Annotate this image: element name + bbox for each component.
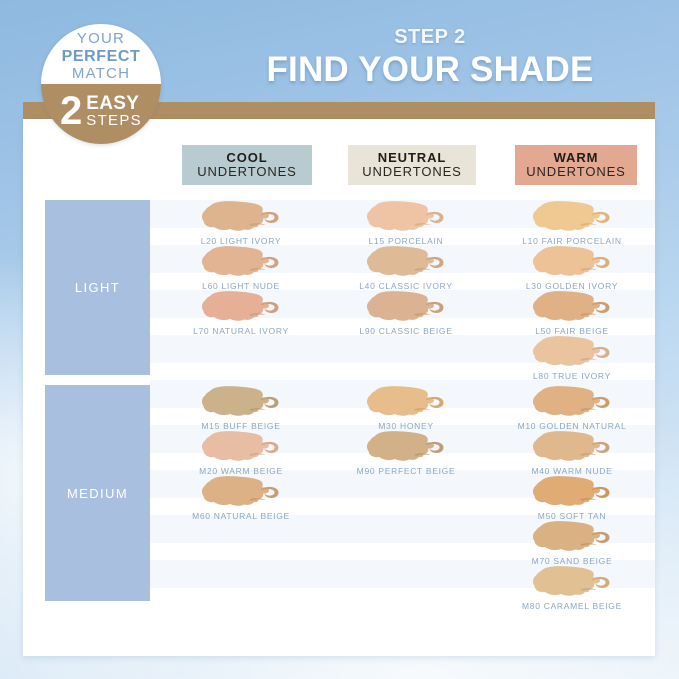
- shade-swatch-icon: [365, 245, 447, 278]
- shade-swatch-icon: [531, 520, 613, 553]
- shade-cell[interactable]: L50 FAIR BEIGE: [513, 290, 631, 336]
- column-header-cool: COOL UNDERTONES: [182, 145, 312, 185]
- column-header-warm-sub: UNDERTONES: [526, 165, 626, 179]
- shade-cell[interactable]: M10 GOLDEN NATURAL: [513, 385, 631, 431]
- shade-swatch-icon: [365, 430, 447, 463]
- shade-name-label: L70 NATURAL IVORY: [182, 326, 300, 336]
- column-header-warm: WARM UNDERTONES: [515, 145, 637, 185]
- shade-name-label: M90 PERFECT BEIGE: [347, 466, 465, 476]
- shade-swatch-icon: [531, 200, 613, 233]
- page-title: FIND YOUR SHADE: [200, 51, 660, 88]
- shade-name-label: M80 CARAMEL BEIGE: [513, 601, 631, 611]
- shade-name-label: L80 TRUE IVORY: [513, 371, 631, 381]
- shade-cell[interactable]: L70 NATURAL IVORY: [182, 290, 300, 336]
- shade-swatch-icon: [200, 475, 282, 508]
- badge-line-match: MATCH: [72, 66, 130, 83]
- badge-line-your: YOUR: [77, 31, 125, 48]
- column-header-neutral-sub: UNDERTONES: [362, 165, 462, 179]
- shade-cell[interactable]: M40 WARM NUDE: [513, 430, 631, 476]
- shade-swatch-icon: [200, 430, 282, 463]
- shade-swatch-icon: [531, 245, 613, 278]
- shade-grid: L20 LIGHT IVORYL60 LIGHT NUDEL70 NATURAL…: [150, 195, 655, 605]
- column-header-warm-title: WARM: [554, 151, 599, 165]
- page-header: STEP 2 FIND YOUR SHADE: [200, 26, 660, 88]
- shade-swatch-icon: [531, 335, 613, 368]
- shade-cell[interactable]: L20 LIGHT IVORY: [182, 200, 300, 246]
- shade-cell[interactable]: L15 PORCELAIN: [347, 200, 465, 246]
- shade-cell[interactable]: L80 TRUE IVORY: [513, 335, 631, 381]
- shade-swatch-icon: [531, 290, 613, 323]
- level-block-light: LIGHT: [45, 200, 150, 375]
- shade-cell[interactable]: L60 LIGHT NUDE: [182, 245, 300, 291]
- shade-swatch-icon: [531, 475, 613, 508]
- shade-name-label: L90 CLASSIC BEIGE: [347, 326, 465, 336]
- badge-steps-label: STEPS: [86, 113, 142, 128]
- badge-line-perfect: PERFECT: [62, 48, 141, 66]
- column-header-cool-sub: UNDERTONES: [197, 165, 297, 179]
- shade-swatch-icon: [365, 385, 447, 418]
- shade-cell[interactable]: M90 PERFECT BEIGE: [347, 430, 465, 476]
- shade-swatch-icon: [365, 290, 447, 323]
- shade-swatch-icon: [200, 200, 282, 233]
- shade-name-label: M60 NATURAL BEIGE: [182, 511, 300, 521]
- shade-cell[interactable]: L30 GOLDEN IVORY: [513, 245, 631, 291]
- column-header-neutral: NEUTRAL UNDERTONES: [348, 145, 476, 185]
- shade-cell[interactable]: M50 SOFT TAN: [513, 475, 631, 521]
- perfect-match-badge: YOUR PERFECT MATCH 2 EASY STEPS: [41, 24, 161, 144]
- badge-bottom-half: 2 EASY STEPS: [41, 84, 161, 144]
- shade-cell[interactable]: M80 CARAMEL BEIGE: [513, 565, 631, 611]
- shade-cell[interactable]: L90 CLASSIC BEIGE: [347, 290, 465, 336]
- shade-swatch-icon: [200, 290, 282, 323]
- shade-cell[interactable]: M20 WARM BEIGE: [182, 430, 300, 476]
- shade-swatch-icon: [531, 430, 613, 463]
- shade-cell[interactable]: L10 FAIR PORCELAIN: [513, 200, 631, 246]
- shade-swatch-icon: [531, 385, 613, 418]
- shade-swatch-icon: [531, 565, 613, 598]
- shade-cell[interactable]: L40 CLASSIC IVORY: [347, 245, 465, 291]
- badge-step-number: 2: [60, 93, 82, 130]
- badge-top-half: YOUR PERFECT MATCH: [41, 24, 161, 84]
- shade-cell[interactable]: M30 HONEY: [347, 385, 465, 431]
- level-block-medium: MEDIUM: [45, 385, 150, 601]
- shade-swatch-icon: [200, 385, 282, 418]
- column-header-neutral-title: NEUTRAL: [378, 151, 446, 165]
- column-header-cool-title: COOL: [226, 151, 267, 165]
- badge-easy-label: EASY: [86, 94, 142, 113]
- badge-step-words: EASY STEPS: [86, 94, 142, 129]
- shade-swatch-icon: [200, 245, 282, 278]
- shade-cell[interactable]: M70 SAND BEIGE: [513, 520, 631, 566]
- step-label: STEP 2: [200, 26, 660, 49]
- shade-cell[interactable]: M15 BUFF BEIGE: [182, 385, 300, 431]
- shade-swatch-icon: [365, 200, 447, 233]
- shade-cell[interactable]: M60 NATURAL BEIGE: [182, 475, 300, 521]
